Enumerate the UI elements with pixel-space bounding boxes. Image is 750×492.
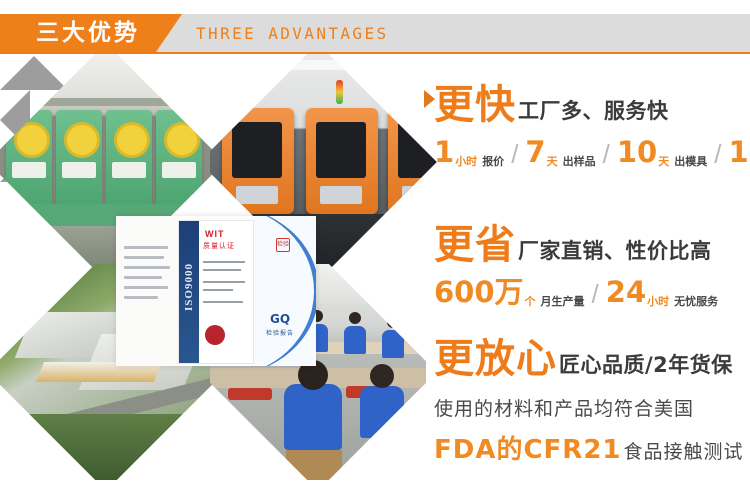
- advantage-heading: 更快 工厂多、服务快: [434, 84, 750, 126]
- inspection-logo: GQ: [270, 312, 290, 326]
- photo-collage: ISO9000 WIT 质量认证 检验 GQ 检验报告: [0, 56, 430, 492]
- metric-item: 600万 个 月生产量: [434, 278, 585, 307]
- advantages-banner: 三大优势 THREE ADVANTAGES: [0, 0, 750, 492]
- inspection-caption: 检验报告: [266, 328, 294, 337]
- compliance-note-line1: 使用的材料和产品均符合美国: [434, 394, 750, 421]
- metric-separator: /: [511, 141, 518, 167]
- metric-item: 15 天 出大货: [728, 138, 750, 167]
- advantage-subtitle: 匠心品质/2年货保: [559, 349, 733, 379]
- inspection-stamp: 检验: [276, 238, 290, 252]
- header-title-en: THREE ADVANTAGES: [196, 14, 389, 52]
- metric-label: 报价: [482, 156, 504, 167]
- metric-label: 出模具: [674, 156, 707, 167]
- metric-number: 15: [728, 138, 750, 167]
- certificate-brand-cn: 质量认证: [203, 241, 235, 251]
- fda-standard-text: FDA的CFR21: [434, 429, 622, 466]
- metric-separator: /: [592, 281, 599, 307]
- metric-unit: 个: [525, 296, 536, 307]
- certificate-right-page: 检验 GQ 检验报告: [254, 216, 316, 366]
- certificate-blue-band: ISO9000: [179, 221, 199, 363]
- metric-unit: 小时: [647, 296, 669, 307]
- certificate-left-page: [116, 216, 178, 366]
- certificate-brand-logo: WIT: [205, 229, 225, 239]
- metric-number: 7: [525, 138, 545, 167]
- advantage-block-cheaper: 更省 厂家直销、性价比高 600万 个 月生产量 / 24 小时 无忧服务: [434, 224, 750, 307]
- section-header: 三大优势 THREE ADVANTAGES: [0, 14, 750, 54]
- metric-label: 出样品: [563, 156, 596, 167]
- advantage-heading: 更放心 匠心品质/2年货保: [434, 338, 750, 380]
- metric-unit: 天: [547, 156, 558, 167]
- metric-separator: /: [603, 141, 610, 167]
- certificate-standard-label: ISO9000: [183, 247, 195, 311]
- metric-separator: /: [714, 141, 721, 167]
- metric-label: 月生产量: [541, 296, 585, 307]
- arrow-tag-icon: [424, 90, 435, 108]
- certificate-red-seal: [205, 325, 225, 345]
- metric-row: 1 小时 报价 / 7 天 出样品 / 10 天 出模具 / 15 天 出大货: [434, 138, 750, 167]
- metric-item: 7 天 出样品: [525, 138, 595, 167]
- metric-row: 600万 个 月生产量 / 24 小时 无忧服务: [434, 278, 750, 307]
- metric-label: 无忧服务: [674, 296, 718, 307]
- advantage-block-faster: 更快 工厂多、服务快 1 小时 报价 / 7 天 出样品 / 10 天 出模具 …: [434, 84, 750, 167]
- advantage-subtitle: 厂家直销、性价比高: [518, 235, 712, 265]
- advantage-title: 更放心: [434, 338, 557, 380]
- compliance-note-line2: FDA的CFR21 食品接触测试: [434, 429, 750, 466]
- advantage-heading: 更省 厂家直销、性价比高: [434, 224, 750, 266]
- shadow-triangle-top: [0, 56, 68, 90]
- metric-unit: 小时: [455, 156, 477, 167]
- metric-number: 600万: [434, 278, 524, 307]
- metric-unit: 天: [658, 156, 669, 167]
- fda-test-text: 食品接触测试: [624, 437, 744, 464]
- advantage-subtitle: 工厂多、服务快: [518, 95, 669, 125]
- metric-number: 10: [617, 138, 657, 167]
- advantage-title: 更快: [434, 84, 516, 126]
- metric-item: 24 小时 无忧服务: [606, 278, 718, 307]
- certificate-photo: ISO9000 WIT 质量认证 检验 GQ 检验报告: [116, 216, 316, 366]
- metric-item: 10 天 出模具: [617, 138, 707, 167]
- metric-number: 24: [606, 278, 646, 307]
- header-title-cn: 三大优势: [36, 14, 140, 52]
- certificate-center-page: ISO9000 WIT 质量认证: [178, 220, 254, 364]
- advantage-block-reassured: 更放心 匠心品质/2年货保 使用的材料和产品均符合美国 FDA的CFR21 食品…: [434, 338, 750, 466]
- metric-item: 1 小时 报价: [434, 138, 504, 167]
- advantage-title: 更省: [434, 224, 516, 266]
- metric-number: 1: [434, 138, 454, 167]
